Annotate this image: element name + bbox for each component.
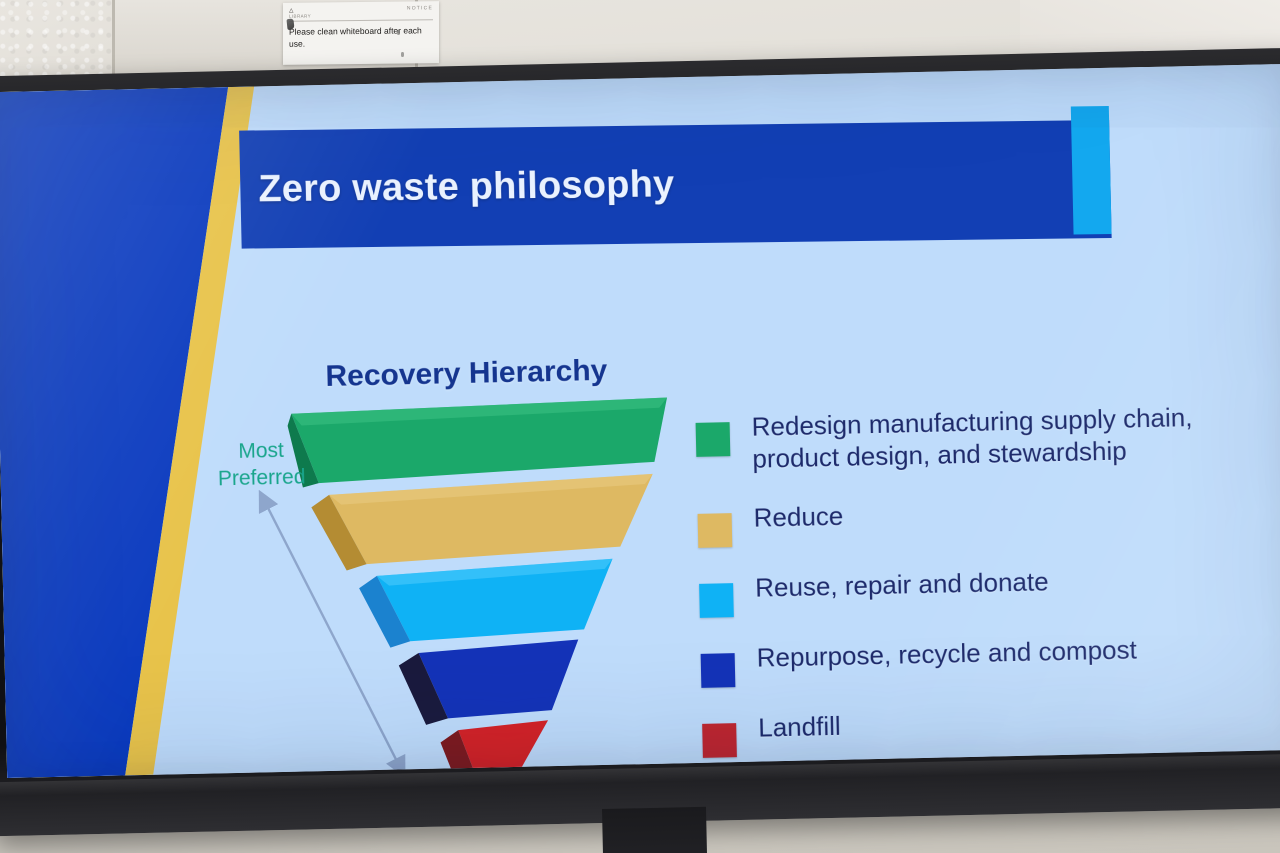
legend-label-redesign: Redesign manufacturing supply chain, pro… — [751, 401, 1256, 475]
preference-arrow — [249, 483, 436, 778]
photo-scene: ▵ LIBRARY NOTICE Please clean whiteboard… — [0, 0, 1280, 853]
legend-label-repurpose: Repurpose, recycle and compost — [756, 635, 1137, 675]
monitor-screen: Zero waste philosophy Recovery Hierarchy — [0, 64, 1280, 778]
presentation-slide: Zero waste philosophy Recovery Hierarchy — [0, 64, 1280, 778]
legend-swatch-red — [702, 724, 737, 759]
wall-speck — [401, 52, 404, 57]
monitor-stand — [602, 807, 707, 853]
legend-swatch-cyan — [699, 584, 734, 619]
notice-label: NOTICE — [407, 5, 433, 11]
legend-item-redesign: Redesign manufacturing supply chain, pro… — [695, 401, 1256, 477]
legend-swatch-green — [696, 422, 731, 457]
whiteboard-notice-sign: ▵ LIBRARY NOTICE Please clean whiteboard… — [283, 1, 439, 65]
wall-speck — [397, 30, 400, 35]
notice-divider — [289, 19, 433, 22]
legend-label-reuse: Reuse, repair and donate — [755, 567, 1049, 605]
funnel-level-1-redesign — [287, 398, 669, 488]
double-arrow-icon — [249, 483, 436, 778]
legend: Redesign manufacturing supply chain, pro… — [695, 401, 1263, 778]
wall-mounted-monitor: Zero waste philosophy Recovery Hierarchy — [0, 48, 1280, 837]
legend-swatch-gold — [698, 514, 733, 549]
slide-title: Zero waste philosophy — [239, 120, 1112, 249]
library-logo: ▵ LIBRARY — [289, 7, 311, 20]
legend-item-landfill: Landfill — [702, 702, 1263, 758]
legend-label-landfill: Landfill — [758, 711, 841, 745]
legend-label-reduce: Reduce — [753, 501, 843, 535]
legend-swatch-blue — [701, 654, 736, 689]
legend-item-reduce: Reduce — [697, 492, 1258, 548]
legend-item-reuse: Reuse, repair and donate — [699, 562, 1260, 618]
most-preferred-line-1: Most — [196, 437, 327, 467]
legend-item-repurpose: Repurpose, recycle and compost — [700, 632, 1261, 688]
section-title: Recovery Hierarchy — [325, 354, 608, 394]
notice-header: ▵ LIBRARY NOTICE — [289, 5, 433, 19]
notice-text: Please clean whiteboard after each use. — [289, 24, 433, 50]
